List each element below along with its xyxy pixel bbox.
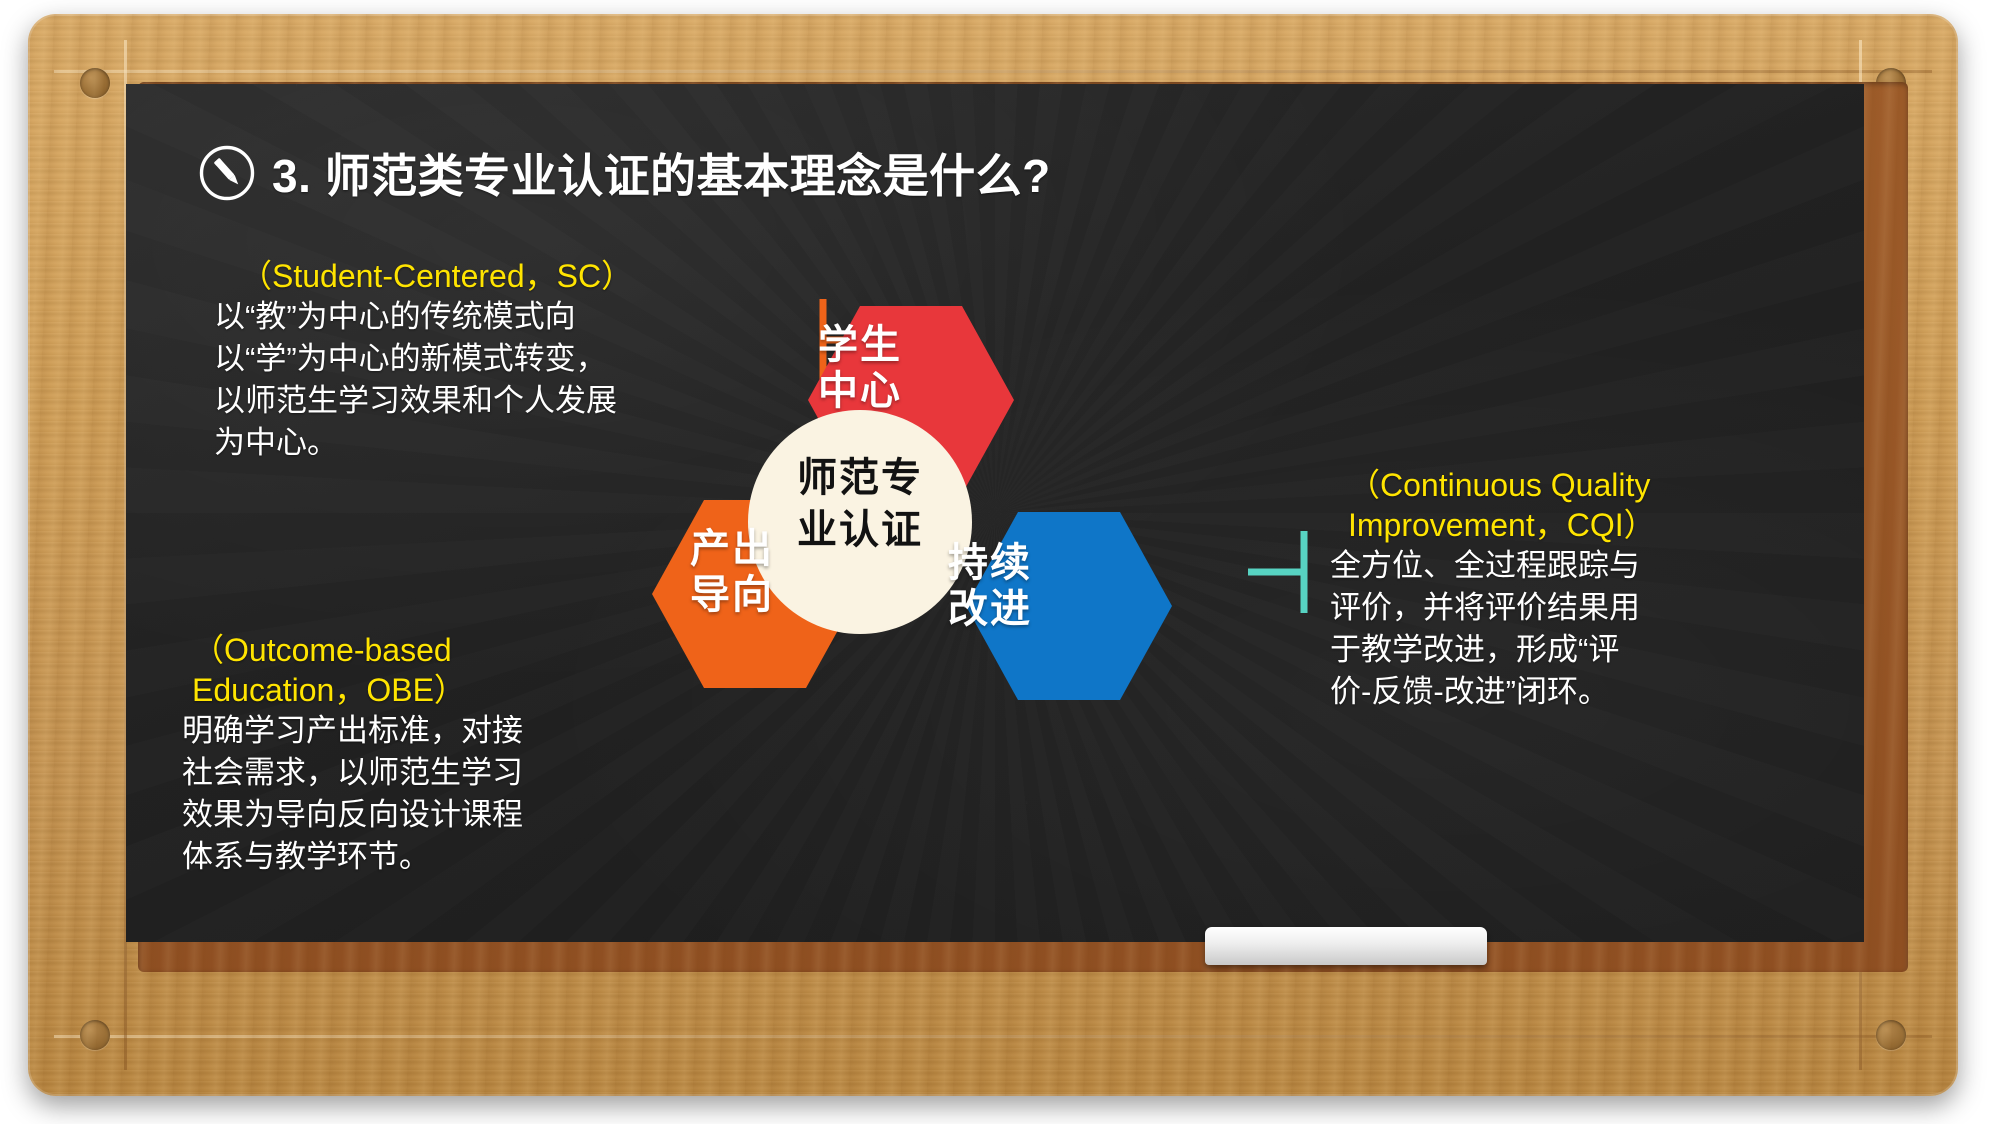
page-title: 3. 师范类专业认证的基本理念是什么? xyxy=(272,140,1051,206)
frame-screw-top-left xyxy=(80,68,110,98)
page-title-row: 3. 师范类专业认证的基本理念是什么? xyxy=(198,140,1051,206)
frame-screw-bottom-left xyxy=(80,1020,110,1050)
cqi-english-label: （Continuous Quality Improvement，CQI） xyxy=(1330,465,1790,545)
frame-rail-bottom xyxy=(54,1035,1932,1038)
obe-description: 明确学习产出标准，对接 社会需求，以师范生学习 效果为导向反向设计课程 体系与教… xyxy=(182,710,682,878)
obe-english-label: （Outcome-based Education，OBE） xyxy=(182,630,682,710)
frame-rail-top xyxy=(54,70,1932,73)
three-concepts-diagram: 学生 中心 产出 导向 持续 改进 师范专 业认证 xyxy=(640,300,1280,860)
text-block-outcome-based-education: （Outcome-based Education，OBE） 明确学习产出标准，对… xyxy=(182,630,682,878)
pencil-in-circle-icon xyxy=(198,144,256,202)
slide-canvas: 3. 师范类专业认证的基本理念是什么? （Student-Centered，SC… xyxy=(0,0,1990,1124)
diagram-core-circle xyxy=(748,410,972,634)
student-centered-english-label: （Student-Centered，SC） xyxy=(214,256,734,296)
hexagon-continuous-improvement xyxy=(966,512,1172,700)
chalk-piece[interactable] xyxy=(1205,927,1487,965)
text-block-continuous-quality-improvement: （Continuous Quality Improvement，CQI） 全方位… xyxy=(1330,465,1790,713)
frame-screw-bottom-right xyxy=(1876,1020,1906,1050)
cqi-description: 全方位、全过程跟踪与 评价，并将评价结果用 于教学改进，形成“评 价-反馈-改进… xyxy=(1330,545,1790,713)
